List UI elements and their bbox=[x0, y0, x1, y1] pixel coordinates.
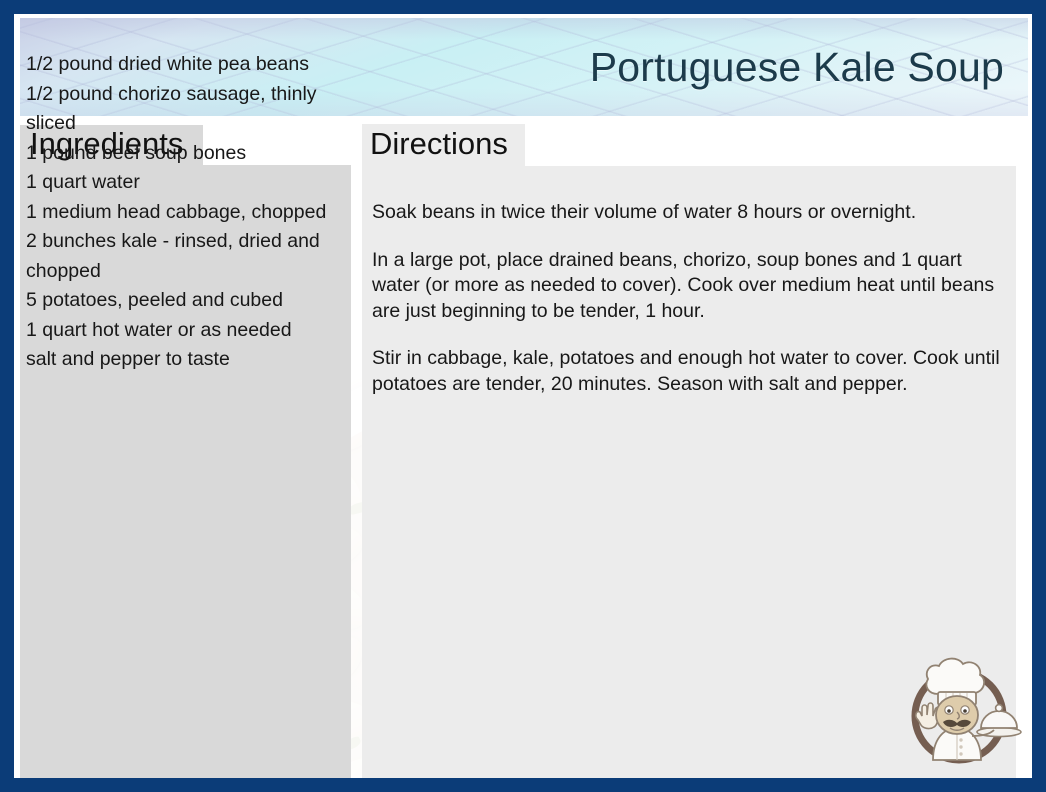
list-item: 5 potatoes, peeled and cubed bbox=[26, 286, 338, 316]
ingredients-list: 1/2 pound dried white pea beans 1/2 poun… bbox=[26, 50, 338, 375]
list-item: 1 quart water bbox=[26, 168, 338, 198]
recipe-card: Portuguese Kale Soup bbox=[0, 0, 1046, 792]
direction-step: In a large pot, place drained beans, cho… bbox=[372, 248, 1012, 325]
list-item: 1 medium head cabbage, chopped bbox=[26, 198, 338, 228]
recipe-page: Portuguese Kale Soup bbox=[14, 14, 1032, 778]
direction-step: Stir in cabbage, kale, potatoes and enou… bbox=[372, 346, 1012, 397]
directions-tab: Directions bbox=[362, 124, 525, 166]
list-item: 1/2 pound chorizo sausage, thinly sliced bbox=[26, 80, 338, 139]
chef-mascot-logo bbox=[902, 648, 1024, 768]
list-item: 1 pound beef soup bones bbox=[26, 139, 338, 169]
directions-heading: Directions bbox=[370, 126, 508, 162]
list-item: 1/2 pound dried white pea beans bbox=[26, 50, 338, 80]
directions-body: Soak beans in twice their volume of wate… bbox=[372, 200, 1012, 397]
list-item: 2 bunches kale - rinsed, dried and chopp… bbox=[26, 227, 338, 286]
list-item: salt and pepper to taste bbox=[26, 345, 338, 375]
list-item: 1 quart hot water or as needed bbox=[26, 316, 338, 346]
column-divider bbox=[351, 165, 362, 778]
direction-step: Soak beans in twice their volume of wate… bbox=[372, 200, 1012, 226]
page-title: Portuguese Kale Soup bbox=[590, 44, 1004, 91]
